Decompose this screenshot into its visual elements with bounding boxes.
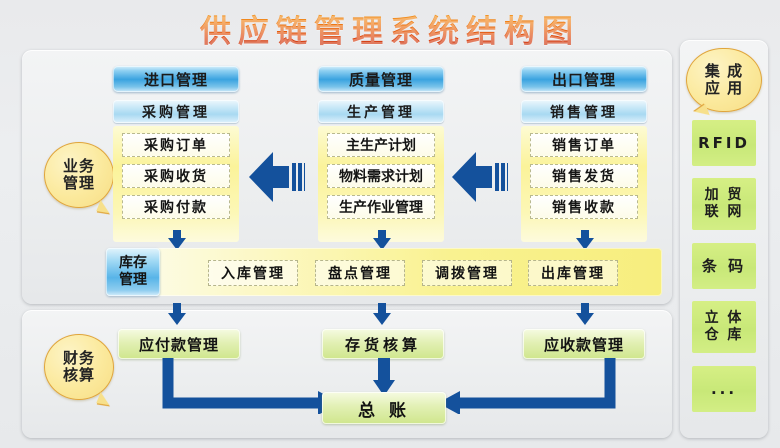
integration-bubble-line2: 应 用 bbox=[705, 80, 743, 97]
item-sales-delivery[interactable]: 销售发货 bbox=[530, 164, 638, 188]
flow-arrow-down-to-payable bbox=[168, 303, 186, 325]
flow-arrow-left-2 bbox=[452, 148, 508, 206]
integration-item-trade-network-line2: 联 网 bbox=[705, 204, 744, 222]
integration-item-trade-network-line1: 加 贸 bbox=[705, 187, 744, 205]
page-title: 供应链管理系统结构图 bbox=[0, 6, 780, 51]
finance-bubble-line2: 核算 bbox=[63, 367, 95, 384]
business-bubble-line1: 业务 bbox=[63, 158, 95, 175]
item-purchase-payment[interactable]: 采购付款 bbox=[122, 195, 230, 219]
business-bubble-line2: 管理 bbox=[63, 175, 95, 192]
flow-arrow-down-purchase-to-inventory bbox=[168, 230, 186, 250]
group-box-production: 主生产计划 物料需求计划 生产作业管理 bbox=[318, 126, 444, 242]
box-accounts-payable[interactable]: 应付款管理 bbox=[118, 329, 240, 359]
group-box-sales: 销售订单 销售发货 销售收款 bbox=[521, 126, 647, 242]
integration-item-rfid[interactable]: RFID bbox=[692, 120, 756, 166]
integration-item-more-label: ... bbox=[711, 380, 737, 399]
item-outbound-mgmt[interactable]: 出库管理 bbox=[528, 260, 618, 286]
finance-bubble-line1: 财务 bbox=[63, 350, 95, 367]
item-sales-collection[interactable]: 销售收款 bbox=[530, 195, 638, 219]
flow-arrow-down-to-receivable bbox=[576, 303, 594, 325]
integration-item-asrs-line2: 仓 库 bbox=[705, 327, 744, 345]
flow-connector-receivable-to-ledger bbox=[438, 358, 628, 414]
inventory-header[interactable]: 库存 管理 bbox=[106, 248, 160, 296]
flow-arrow-down-to-inventory-accounting bbox=[373, 303, 391, 325]
integration-item-trade-network[interactable]: 加 贸 联 网 bbox=[692, 178, 756, 230]
inventory-header-line1: 库存 bbox=[119, 255, 147, 273]
box-general-ledger[interactable]: 总 账 bbox=[322, 392, 446, 424]
integration-item-asrs-warehouse[interactable]: 立 体 仓 库 bbox=[692, 301, 756, 353]
column-header-export[interactable]: 出口管理 bbox=[521, 66, 647, 92]
flow-arrow-left-1 bbox=[249, 148, 305, 206]
item-sales-order[interactable]: 销售订单 bbox=[530, 133, 638, 157]
item-master-production-plan[interactable]: 主生产计划 bbox=[327, 133, 435, 157]
flow-arrow-down-sales-to-inventory bbox=[576, 230, 594, 250]
column-header-import[interactable]: 进口管理 bbox=[113, 66, 239, 92]
item-purchase-order[interactable]: 采购订单 bbox=[122, 133, 230, 157]
integration-item-more[interactable]: ... bbox=[692, 366, 756, 412]
item-transfer-mgmt[interactable]: 调拨管理 bbox=[422, 260, 512, 286]
business-bubble: 业务 管理 bbox=[44, 142, 114, 208]
inventory-header-line2: 管理 bbox=[119, 272, 147, 290]
integration-item-barcode[interactable]: 条 码 bbox=[692, 243, 756, 289]
flow-arrow-down-production-to-inventory bbox=[373, 230, 391, 250]
integration-item-barcode-label: 条 码 bbox=[702, 257, 746, 276]
item-stocktake-mgmt[interactable]: 盘点管理 bbox=[315, 260, 405, 286]
integration-item-asrs-line1: 立 体 bbox=[705, 310, 744, 328]
item-purchase-receipt[interactable]: 采购收货 bbox=[122, 164, 230, 188]
finance-bubble: 财务 核算 bbox=[44, 334, 114, 400]
item-inbound-mgmt[interactable]: 入库管理 bbox=[208, 260, 298, 286]
column-header-quality[interactable]: 质量管理 bbox=[318, 66, 444, 92]
box-inventory-accounting[interactable]: 存货核算 bbox=[322, 329, 444, 359]
group-box-purchase: 采购订单 采购收货 采购付款 bbox=[113, 126, 239, 242]
integration-bubble: 集 成 应 用 bbox=[686, 48, 762, 112]
column-subheader-purchase[interactable]: 采购管理 bbox=[113, 100, 239, 123]
item-production-operation-mgmt[interactable]: 生产作业管理 bbox=[327, 195, 435, 219]
box-accounts-receivable[interactable]: 应收款管理 bbox=[523, 329, 645, 359]
item-material-requirement-plan[interactable]: 物料需求计划 bbox=[327, 164, 435, 188]
column-subheader-production[interactable]: 生产管理 bbox=[318, 100, 444, 123]
integration-item-rfid-label: RFID bbox=[698, 134, 750, 153]
flow-arrow-down-to-ledger bbox=[373, 358, 395, 396]
column-subheader-sales[interactable]: 销售管理 bbox=[521, 100, 647, 123]
diagram-root: 供应链管理系统结构图 业务 管理 进口管理 采购管理 采购订单 采购收货 采购付… bbox=[0, 0, 780, 448]
integration-bubble-line1: 集 成 bbox=[705, 63, 743, 80]
flow-connector-payable-to-ledger bbox=[150, 358, 340, 414]
